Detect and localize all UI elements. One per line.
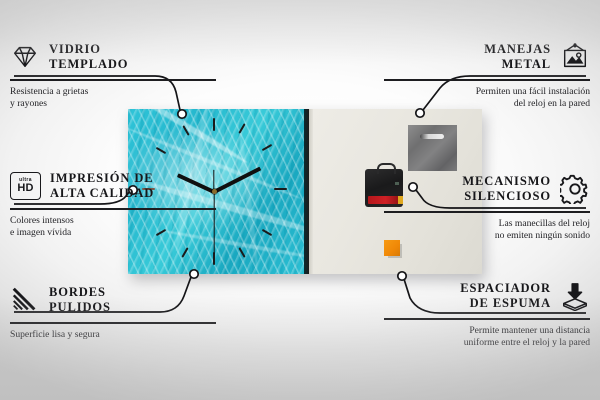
feature-description: Las manecillas del reloj no emiten ningú… (384, 218, 590, 244)
feature-title: MECANISMO SILENCIOSO (462, 174, 551, 204)
clock-tick (274, 188, 287, 190)
feature-bordes-pulidos: BORDES PULIDOS Superficie lisa y segura (10, 281, 216, 341)
feature-vidrio-templado: VIDRIO TEMPLADO Resistencia a grietas y … (10, 38, 216, 111)
feature-title: ESPACIADOR DE ESPUMA (460, 281, 551, 311)
feature-description: Colores intensos e imagen vívida (10, 215, 216, 241)
feature-mecanismo-silencioso: MECANISMO SILENCIOSO Las manecillas del … (384, 170, 590, 243)
title-underline (10, 208, 216, 210)
product-feature-infographic: VIDRIO TEMPLADO Resistencia a grietas y … (0, 0, 600, 400)
clock-tick (262, 144, 273, 151)
title-underline (384, 211, 590, 213)
panel-edge (309, 109, 313, 274)
feature-title: BORDES PULIDOS (49, 285, 111, 315)
clock-tick (238, 247, 245, 258)
clock-tick (213, 118, 215, 131)
clock-tick (213, 252, 215, 265)
feature-espaciador-espuma: ESPACIADOR DE ESPUMA Permite mantener un… (384, 277, 590, 350)
feature-description: Superficie lisa y segura (10, 329, 216, 342)
feature-title: VIDRIO TEMPLADO (49, 42, 128, 72)
feature-title: MANEJAS METAL (484, 42, 551, 72)
feature-impresion-alta-calidad: ultra HD IMPRESIÓN DE ALTA CALIDAD Color… (10, 167, 216, 240)
ultra-hd-icon: ultra HD (10, 172, 41, 200)
clock-tick (181, 247, 188, 258)
foam-spacer-arrow-icon (560, 281, 590, 311)
feature-description: Permiten una fácil instalación del reloj… (384, 86, 590, 112)
feature-manejas-metal: MANEJAS METAL Permiten una fácil instala… (384, 38, 590, 111)
title-underline (384, 79, 590, 81)
hanger-slot (420, 134, 444, 139)
diamond-icon (10, 42, 40, 72)
title-underline (10, 322, 216, 324)
polished-edges-icon (10, 285, 40, 315)
feature-title: IMPRESIÓN DE ALTA CALIDAD (50, 171, 154, 201)
clock-tick (262, 229, 273, 236)
title-underline (384, 318, 590, 320)
ultra-hd-large-text: HD (17, 183, 33, 195)
feature-description: Resistencia a grietas y rayones (10, 86, 216, 112)
gear-icon (560, 174, 590, 204)
clock-tick (238, 123, 245, 134)
feature-description: Permite mantener una distancia uniforme … (384, 325, 590, 351)
title-underline (10, 79, 216, 81)
clock-tick (156, 147, 167, 154)
framed-picture-hook-icon (560, 42, 590, 72)
metal-hanger-plate (408, 125, 457, 171)
